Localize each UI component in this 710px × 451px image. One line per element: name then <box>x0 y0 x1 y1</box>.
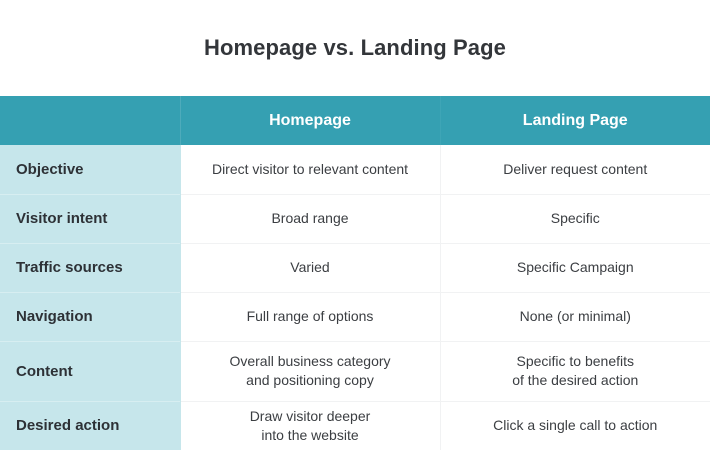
table-row: Traffic sources Varied Specific Campaign <box>0 243 710 292</box>
table-row: Navigation Full range of options None (o… <box>0 292 710 341</box>
row-label-visitor-intent: Visitor intent <box>0 194 180 243</box>
cell-text-line: None (or minimal) <box>451 307 701 326</box>
cell-visitor-intent-landing-page: Specific <box>440 194 710 243</box>
table-corner-cell <box>0 96 180 145</box>
cell-traffic-sources-landing-page: Specific Campaign <box>440 243 710 292</box>
cell-text-line: Specific to benefits <box>451 352 701 371</box>
row-label-traffic-sources: Traffic sources <box>0 243 180 292</box>
cell-text-line: Overall business category <box>191 352 430 371</box>
cell-traffic-sources-homepage: Varied <box>180 243 440 292</box>
page-title: Homepage vs. Landing Page <box>204 36 506 60</box>
table-header: Homepage Landing Page <box>0 96 710 145</box>
cell-objective-homepage: Direct visitor to relevant content <box>180 145 440 194</box>
cell-navigation-landing-page: None (or minimal) <box>440 292 710 341</box>
cell-text-line: Draw visitor deeper <box>191 407 430 426</box>
cell-text-line: Specific <box>451 209 701 228</box>
cell-text-line: and positioning copy <box>191 371 430 390</box>
title-area: Homepage vs. Landing Page <box>0 0 710 96</box>
cell-text-line: of the desired action <box>451 371 701 390</box>
table-row: Visitor intent Broad range Specific <box>0 194 710 243</box>
table-row: Desired action Draw visitor deeper into … <box>0 401 710 450</box>
cell-desired-action-landing-page: Click a single call to action <box>440 401 710 450</box>
cell-objective-landing-page: Deliver request content <box>440 145 710 194</box>
row-label-objective: Objective <box>0 145 180 194</box>
row-label-desired-action: Desired action <box>0 401 180 450</box>
cell-desired-action-homepage: Draw visitor deeper into the website <box>180 401 440 450</box>
comparison-infographic: Homepage vs. Landing Page Homepage Landi… <box>0 0 710 451</box>
comparison-table: Homepage Landing Page Objective Direct v… <box>0 96 710 450</box>
row-label-navigation: Navigation <box>0 292 180 341</box>
cell-content-landing-page: Specific to benefits of the desired acti… <box>440 341 710 401</box>
cell-navigation-homepage: Full range of options <box>180 292 440 341</box>
column-header-landing-page: Landing Page <box>440 96 710 145</box>
table-row: Content Overall business category and po… <box>0 341 710 401</box>
cell-text-line: Specific Campaign <box>451 258 701 277</box>
column-header-homepage: Homepage <box>180 96 440 145</box>
cell-content-homepage: Overall business category and positionin… <box>180 341 440 401</box>
cell-visitor-intent-homepage: Broad range <box>180 194 440 243</box>
cell-text-line: into the website <box>191 426 430 445</box>
cell-text-line: Direct visitor to relevant content <box>191 160 430 179</box>
cell-text-line: Deliver request content <box>451 160 701 179</box>
table-header-row: Homepage Landing Page <box>0 96 710 145</box>
cell-text-line: Varied <box>191 258 430 277</box>
cell-text-line: Broad range <box>191 209 430 228</box>
cell-text-line: Click a single call to action <box>451 416 701 435</box>
cell-text-line: Full range of options <box>191 307 430 326</box>
table-row: Objective Direct visitor to relevant con… <box>0 145 710 194</box>
row-label-content: Content <box>0 341 180 401</box>
table-body: Objective Direct visitor to relevant con… <box>0 145 710 450</box>
